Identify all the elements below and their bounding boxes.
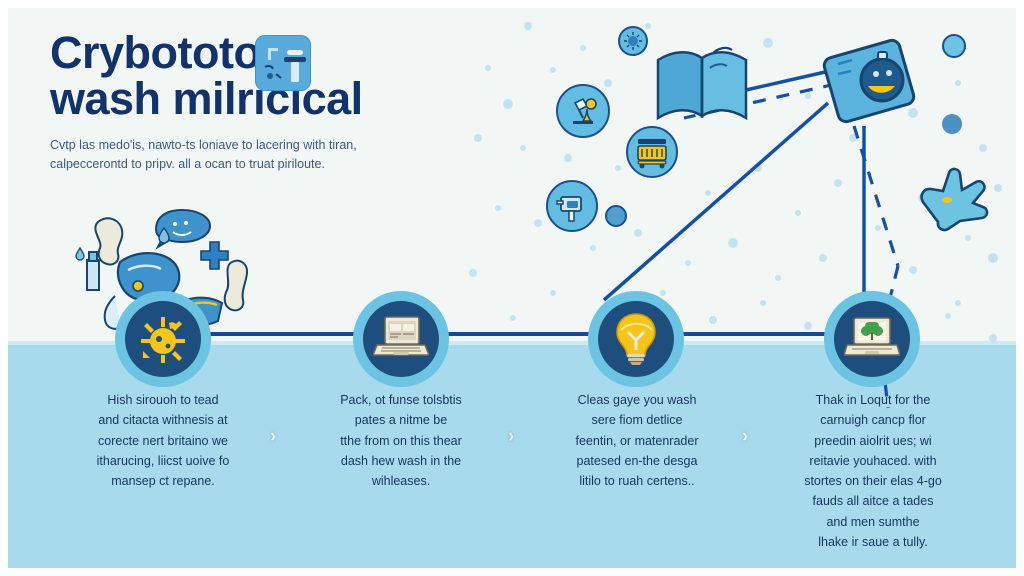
laptop-tree-icon [834,301,910,377]
connector-rail-3 [680,332,826,336]
node-dot-small[interactable] [605,205,627,227]
faucet-tap-icon [255,35,311,91]
title-line-1: Crybototo [50,30,260,76]
step-circle-2[interactable] [353,291,449,387]
step-text-1: Hish sirouoh to tead and citacta withnes… [64,390,262,491]
chevron-right-icon-1: › [270,426,276,448]
laptop-computer-icon [363,301,439,377]
node-hand-gesture[interactable] [913,166,991,232]
connector-rail-2 [446,332,592,336]
step-text-4: Thak in Loqut for the carnuigh cancp flo… [770,390,976,552]
step-circle-4[interactable] [824,291,920,387]
infographic-canvas: Crybototowash milricical Cvtp las medo'i… [0,0,1024,576]
node-open-book[interactable] [650,38,754,128]
lightbulb-icon [598,301,674,377]
node-virus-small[interactable] [618,26,648,56]
step-circle-3[interactable] [588,291,684,387]
node-camera-face[interactable] [820,30,924,134]
chevron-right-icon-3: › [742,426,748,448]
node-washing-machine[interactable] [626,126,678,178]
step-circle-1[interactable] [115,291,211,387]
node-faucet[interactable] [546,180,598,232]
node-microscope[interactable] [556,84,610,138]
title-line-2: wash milricical [50,73,363,124]
germ-sun-icon [125,301,201,377]
step-text-2: Pack, ot funse tolsbtis pates a nitme be… [301,390,501,491]
connector-rail-1 [208,332,356,336]
node-plain-dot-a [942,34,966,58]
subtitle: Cvtp las medo'is, nawto-ts loniave to la… [50,136,442,175]
infographic-frame: Crybototowash milricical Cvtp las medo'i… [8,8,1016,568]
node-plain-dot-b [942,114,962,134]
chevron-right-icon-2: › [508,426,514,448]
step-text-3: Cleas gaye you wash sere fiom detlice fe… [536,390,738,491]
